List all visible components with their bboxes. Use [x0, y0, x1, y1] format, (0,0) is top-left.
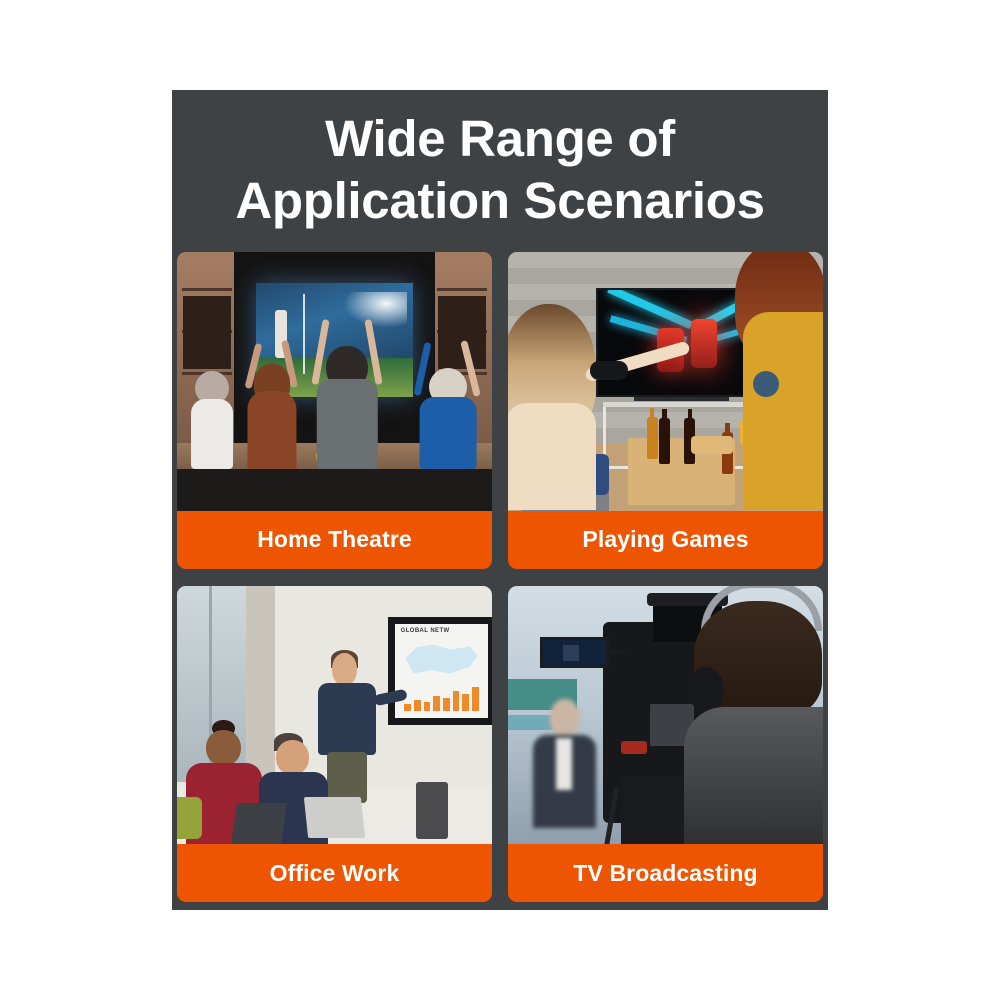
interview-subject [533, 699, 596, 828]
scenario-label-playing-games: Playing Games [508, 511, 823, 569]
presenter-trousers [327, 752, 367, 803]
presentation-display: GLOBAL NETW [388, 617, 492, 726]
chart-bar [414, 700, 421, 711]
laptop-device [304, 797, 365, 838]
viewer-3-body [317, 379, 377, 469]
gamer-redhead-sweater [743, 312, 823, 511]
chart-bar [462, 694, 469, 710]
coffee-carafe [416, 782, 448, 839]
gamer-blonde-sweater [508, 403, 596, 511]
dark-panel: Wide Range of Application Scenarios [172, 90, 828, 910]
colleague-1-head [206, 730, 241, 766]
scenario-card-tv-broadcasting[interactable]: TV Broadcasting [508, 586, 823, 903]
camera-operator-jacket [684, 707, 823, 844]
chart-bar [472, 687, 479, 710]
headphones-earcup [688, 667, 724, 713]
playing-games-photo [508, 252, 823, 511]
interview-subject-shirt [556, 738, 572, 790]
viewer-4-body [420, 397, 477, 469]
presenter-head [332, 653, 357, 686]
camera-red-knob [621, 741, 646, 754]
scenario-card-office-work[interactable]: GLOBAL NETW [177, 586, 492, 903]
camera-monitor-screen [540, 637, 609, 668]
chart-bar [404, 704, 411, 711]
home-theatre-photo [177, 252, 492, 511]
viewer-2-body [247, 391, 296, 469]
office-chair [177, 797, 202, 838]
page-title-line-1: Wide Range of [325, 108, 675, 170]
viewer-3-right-arm [365, 319, 383, 385]
chart-bar [453, 691, 460, 710]
camera-operator [684, 591, 823, 844]
gamer-blonde [508, 304, 596, 511]
viewer-1-body [191, 399, 233, 470]
office-work-photo: GLOBAL NETW [177, 586, 492, 845]
goal-post [303, 294, 305, 374]
watermark-logo-icon [753, 371, 779, 397]
chart-bar [433, 696, 440, 711]
beer-bottle-1 [647, 417, 658, 459]
scenario-card-playing-games[interactable]: Playing Games [508, 252, 823, 569]
viewer-3 [309, 319, 385, 469]
game-red-figure-2 [691, 319, 717, 367]
soda-bottle-1 [659, 418, 670, 464]
colleague-2-head [276, 740, 309, 775]
scenario-label-office-work: Office Work [177, 844, 492, 902]
poster-root: Wide Range of Application Scenarios [0, 0, 1000, 1000]
scenario-card-home-theatre[interactable]: Home Theatre [177, 252, 492, 569]
viewer-1 [183, 355, 240, 469]
viewer-4 [413, 340, 482, 469]
sandwich-plate [691, 436, 733, 454]
scenario-label-home-theatre: Home Theatre [177, 511, 492, 569]
scenario-card-grid: Home Theatre [177, 252, 823, 902]
world-map-graphic [401, 642, 481, 682]
tv-stand-neck [634, 397, 729, 401]
tv-broadcasting-photo [508, 586, 823, 845]
viewer-2 [240, 335, 303, 469]
chart-bar [424, 702, 431, 711]
scenario-label-tv-broadcasting: TV Broadcasting [508, 844, 823, 902]
tablet-device [231, 803, 287, 844]
game-controller [590, 361, 628, 380]
chart-bar [443, 698, 450, 711]
sofa [177, 469, 492, 510]
page-title-line-2: Application Scenarios [235, 170, 764, 232]
page-title: Wide Range of Application Scenarios [172, 90, 828, 250]
presentation-bar-chart [404, 684, 478, 710]
gamer-redhead [735, 252, 823, 511]
presentation-title: GLOBAL NETW [401, 628, 450, 634]
interview-subject-head [550, 699, 580, 738]
